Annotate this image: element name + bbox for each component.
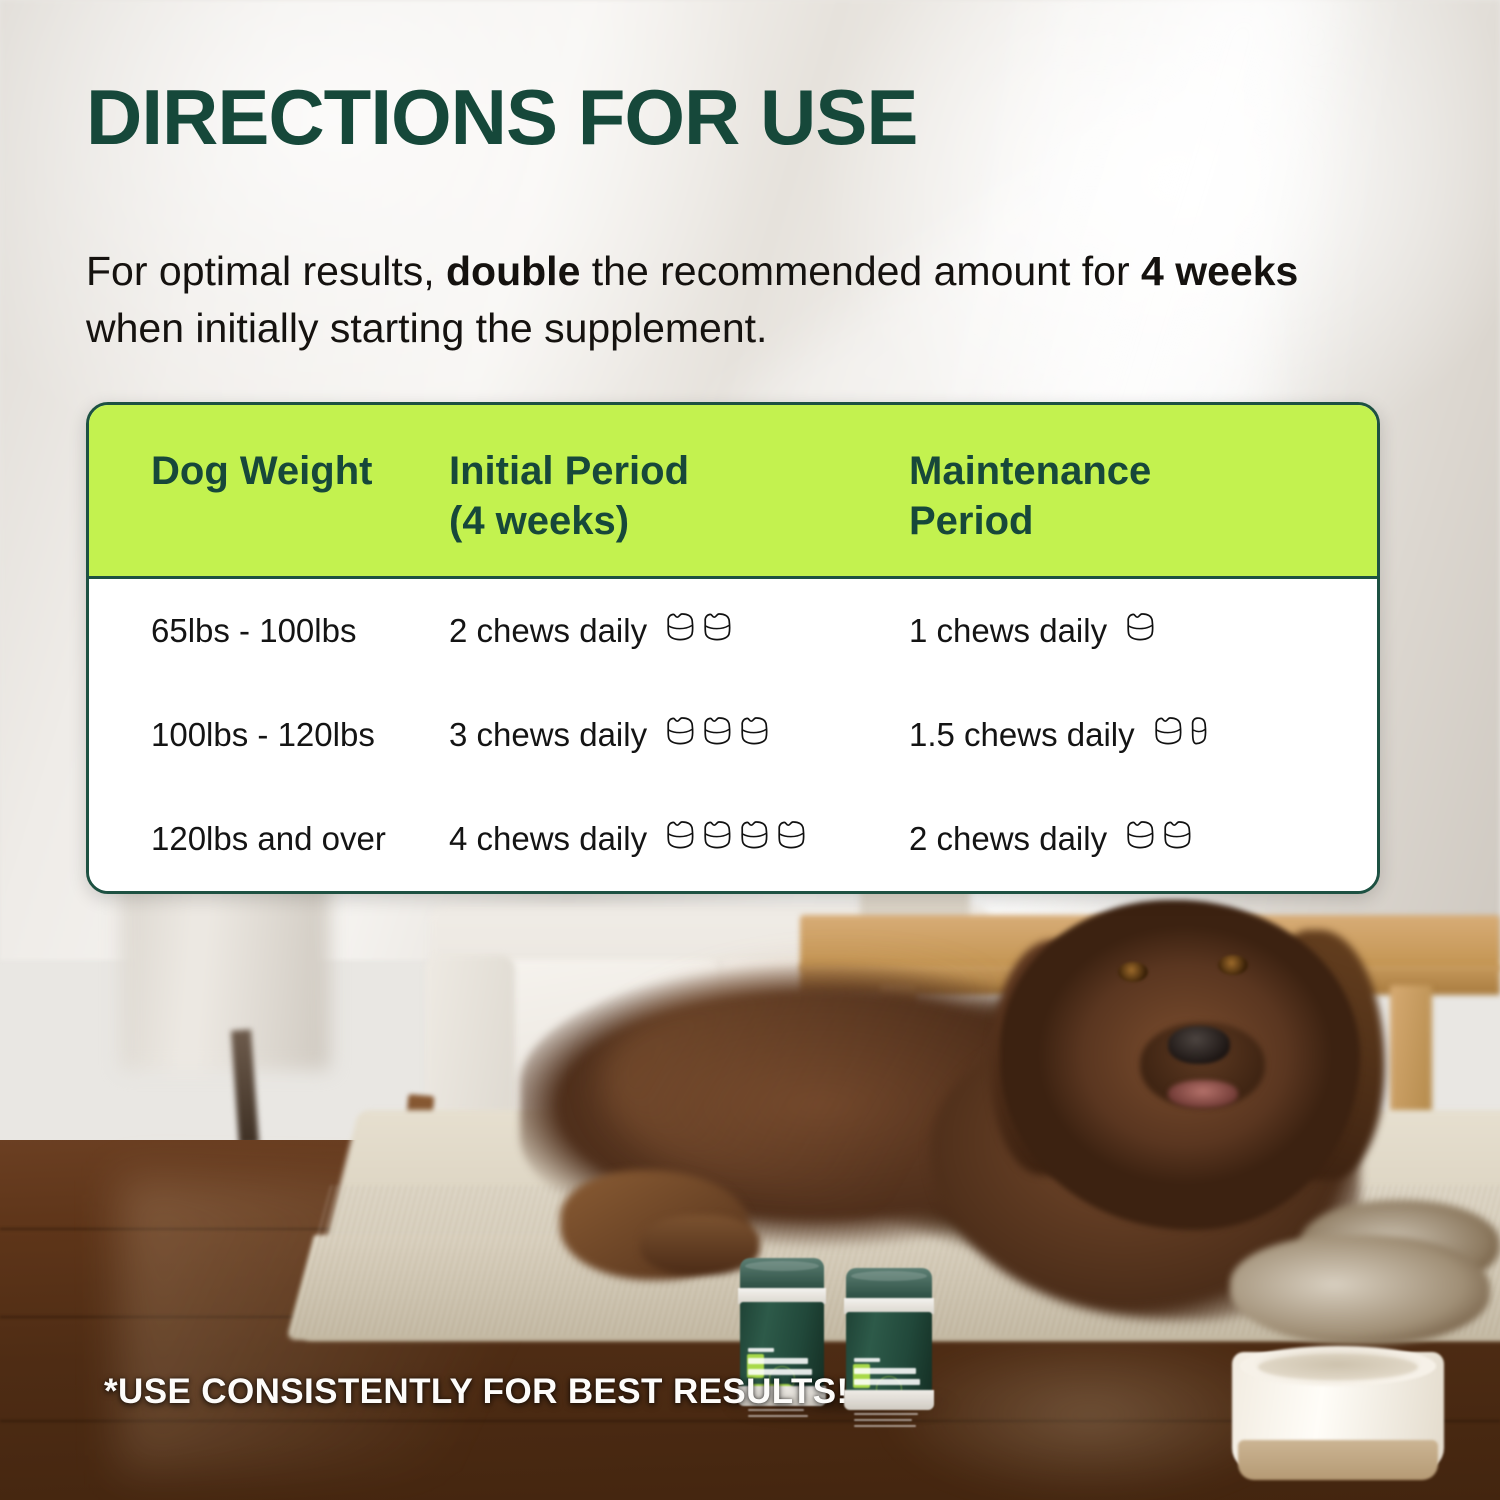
cell-maintenance-period: 1.5 chews daily <box>909 715 1377 755</box>
maintenance-dose-label: 1 chews daily <box>909 612 1107 650</box>
chew-icon-group <box>1123 819 1194 859</box>
column-header-maintenance-period-line1: Maintenance <box>909 447 1377 497</box>
column-header-maintenance-period-line2: Period <box>909 497 1377 547</box>
jar-fine-print <box>854 1419 912 1421</box>
jar-brand-text <box>854 1358 880 1362</box>
column-header-initial-period-line2: (4 weeks) <box>449 497 909 547</box>
column-header-dog-weight: Dog Weight <box>89 447 449 546</box>
chew-icon-group <box>663 611 734 651</box>
initial-dose-label: 4 chews daily <box>449 820 647 858</box>
column-header-initial-period: Initial Period (4 weeks) <box>449 447 909 546</box>
initial-dose: 4 chews daily <box>449 819 808 859</box>
initial-dose-label: 2 chews daily <box>449 612 647 650</box>
product-jar-front <box>846 1268 932 1410</box>
maintenance-dose: 2 chews daily <box>909 819 1194 859</box>
intro-text-part-2: the recommended amount for <box>580 248 1141 294</box>
intro-text-part-1: For optimal results, <box>86 248 446 294</box>
chew-icon <box>737 715 771 755</box>
intro-emphasis-double: double <box>446 248 580 294</box>
chew-half-icon <box>1188 715 1209 755</box>
chew-icon <box>663 819 697 859</box>
chew-icon-group <box>663 715 771 755</box>
cell-dog-weight: 65lbs - 100lbs <box>89 612 449 650</box>
column-header-initial-period-line1: Initial Period <box>449 447 909 497</box>
jar-product-name-line1 <box>854 1368 916 1374</box>
maintenance-dose-label: 2 chews daily <box>909 820 1107 858</box>
column-header-dog-weight-label: Dog Weight <box>151 449 372 493</box>
chew-icon <box>1160 819 1194 859</box>
cell-initial-period: 4 chews daily <box>449 819 909 859</box>
cell-maintenance-period: 1 chews daily <box>909 611 1377 651</box>
dosage-table-card: Dog Weight Initial Period (4 weeks) Main… <box>86 402 1380 894</box>
chew-icon-group <box>1151 715 1209 755</box>
chew-icon <box>700 819 734 859</box>
chew-icon <box>663 715 697 755</box>
cell-dog-weight: 100lbs - 120lbs <box>89 716 449 754</box>
jar-lid <box>846 1268 932 1302</box>
chew-icon <box>774 819 808 859</box>
intro-text-part-3: when initially starting the supplement. <box>86 305 767 351</box>
initial-dose-label: 3 chews daily <box>449 716 647 754</box>
dosage-table-header-row: Dog Weight Initial Period (4 weeks) Main… <box>89 405 1377 579</box>
infographic-content: DIRECTIONS FOR USE For optimal results, … <box>0 0 1500 1500</box>
initial-dose: 2 chews daily <box>449 611 734 651</box>
cell-dog-weight: 120lbs and over <box>89 820 449 858</box>
maintenance-dose: 1 chews daily <box>909 611 1157 651</box>
table-row: 100lbs - 120lbs3 chews daily1.5 chews da… <box>89 683 1377 787</box>
chew-icon-group <box>1123 611 1157 651</box>
table-row: 120lbs and over4 chews daily2 chews dail… <box>89 787 1377 891</box>
chew-icon <box>737 819 771 859</box>
chew-icon <box>663 611 697 651</box>
page-title: DIRECTIONS FOR USE <box>86 78 917 156</box>
chew-icon-group <box>663 819 808 859</box>
initial-dose: 3 chews daily <box>449 715 771 755</box>
column-header-maintenance-period: Maintenance Period <box>909 447 1377 546</box>
jar-fine-print <box>854 1425 916 1427</box>
cell-initial-period: 3 chews daily <box>449 715 909 755</box>
chew-icon <box>700 611 734 651</box>
cell-maintenance-period: 2 chews daily <box>909 819 1377 859</box>
footnote-use-consistently: *USE CONSISTENTLY FOR BEST RESULTS! <box>104 1372 849 1412</box>
chew-icon <box>1123 819 1157 859</box>
jar-fine-print <box>854 1413 918 1415</box>
maintenance-dose: 1.5 chews daily <box>909 715 1209 755</box>
intro-emphasis-weeks: 4 weeks <box>1141 248 1298 294</box>
jar-product-name-line2 <box>854 1379 920 1385</box>
maintenance-dose-label: 1.5 chews daily <box>909 716 1135 754</box>
cell-initial-period: 2 chews daily <box>449 611 909 651</box>
jar-bottom-band <box>844 1390 934 1410</box>
dosage-table-body: 65lbs - 100lbs2 chews daily1 chews daily… <box>89 579 1377 891</box>
table-row: 65lbs - 100lbs2 chews daily1 chews daily <box>89 579 1377 683</box>
chew-icon <box>1123 611 1157 651</box>
jar-label <box>846 1312 932 1392</box>
chew-icon <box>700 715 734 755</box>
intro-paragraph: For optimal results, double the recommen… <box>86 243 1356 356</box>
chew-icon <box>1151 715 1185 755</box>
